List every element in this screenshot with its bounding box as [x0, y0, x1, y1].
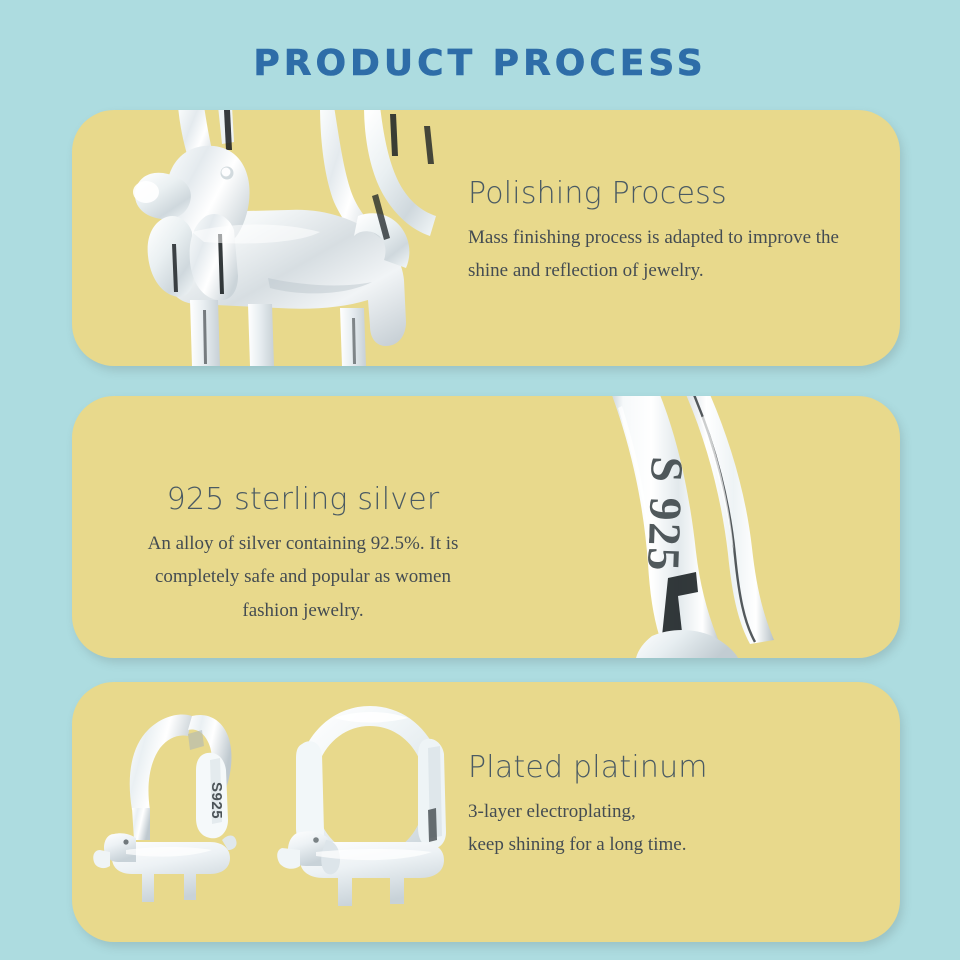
- card-heading: Polishing Process: [468, 176, 888, 211]
- page-title: PRODUCT PROCESS: [0, 46, 960, 82]
- card-body-line: Mass finishing process is adapted to imp…: [468, 221, 888, 254]
- card-body-line: completely safe and popular as women: [98, 560, 508, 593]
- card-body-line: fashion jewelry.: [98, 594, 508, 627]
- card-heading: Plated platinum: [468, 750, 888, 785]
- dachshund-charm-macro-photo: [72, 110, 472, 366]
- card-925-sterling-silver: 925 sterling silver An alloy of silver c…: [72, 396, 900, 658]
- svg-text:S925: S925: [208, 782, 225, 819]
- card-body-line: An alloy of silver containing 92.5%. It …: [98, 527, 508, 560]
- card-body-line: shine and reflection of jewelry.: [468, 254, 888, 287]
- text-block-sterling: 925 sterling silver An alloy of silver c…: [98, 482, 508, 627]
- card-polishing-process: Polishing Process Mass finishing process…: [72, 110, 900, 366]
- card-plated-platinum: S925: [72, 682, 900, 942]
- text-block-polishing: Polishing Process Mass finishing process…: [468, 176, 888, 288]
- dachshund-hoop-earrings-pair-photo: S925: [92, 690, 482, 938]
- card-body-line: keep shining for a long time.: [468, 828, 888, 861]
- card-heading: 925 sterling silver: [98, 482, 508, 517]
- card-body-line: 3-layer electroplating,: [468, 795, 888, 828]
- text-block-plated: Plated platinum 3-layer electroplating, …: [468, 750, 888, 862]
- s925-hallmark-stamp-macro-photo: S 925: [592, 396, 900, 658]
